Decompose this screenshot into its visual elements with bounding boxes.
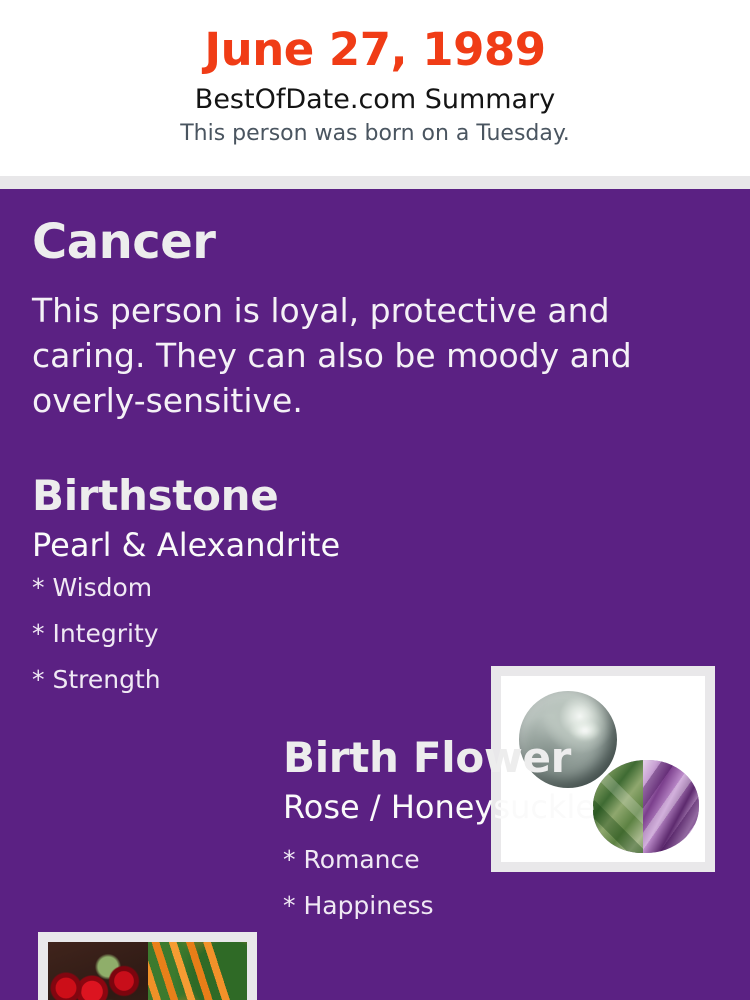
birthstone-trait-list: * Wisdom * Integrity * Strength [32, 575, 161, 713]
gem-green-half [593, 760, 643, 853]
header-divider [0, 176, 750, 189]
birthstone-heading: Birthstone [32, 475, 278, 517]
birth-flower-name: Rose / Honeysuckle [283, 791, 595, 823]
zodiac-sign-heading: Cancer [32, 218, 215, 266]
site-subtitle: BestOfDate.com Summary [0, 84, 750, 115]
birth-flower-heading: Birth Flower [283, 737, 571, 779]
list-item: * Strength [32, 667, 161, 692]
red-roses-icon [48, 942, 148, 1000]
gem-purple-half [643, 760, 699, 853]
summary-infographic: June 27, 1989 BestOfDate.com Summary Thi… [0, 0, 750, 1000]
birth-flower-trait-list: * Romance * Happiness [283, 847, 434, 939]
main-panel: Cancer This person is loyal, protective … [0, 189, 750, 1000]
zodiac-description: This person is loyal, protective and car… [32, 288, 652, 424]
list-item: * Romance [283, 847, 434, 872]
page-title: June 27, 1989 [0, 24, 750, 76]
birth-flower-image [48, 942, 247, 1000]
birthstone-name: Pearl & Alexandrite [32, 529, 340, 561]
alexandrite-gem-icon [593, 760, 699, 853]
list-item: * Integrity [32, 621, 161, 646]
list-item: * Wisdom [32, 575, 161, 600]
birth-flower-image-frame [38, 932, 257, 1000]
orange-honeysuckle-icon [148, 942, 248, 1000]
header: June 27, 1989 BestOfDate.com Summary Thi… [0, 0, 750, 176]
list-item: * Happiness [283, 893, 434, 918]
birth-day-note: This person was born on a Tuesday. [0, 121, 750, 146]
